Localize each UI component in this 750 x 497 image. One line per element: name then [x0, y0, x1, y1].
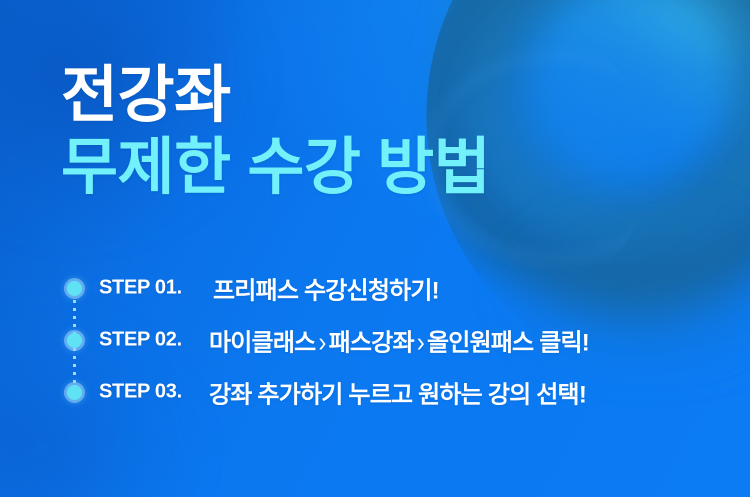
headline-line-2: 무제한 수강 방법 [61, 138, 490, 198]
step-dot-icon [67, 385, 82, 400]
step-dot-icon [67, 333, 82, 348]
step-dot-icon [67, 281, 82, 296]
step-item-2: STEP 02. 마이클래스›패스강좌›올인원패스 클릭! [61, 314, 721, 366]
step-item-3: STEP 03. 강좌 추가하기 누르고 원하는 강의 선택! [61, 366, 721, 418]
headline-line-1: 전강좌 [61, 66, 490, 126]
step-label-2: STEP 02. [99, 329, 182, 352]
chevron-right-icon: › [315, 327, 328, 359]
step-text-3: 강좌 추가하기 누르고 원하는 강의 선택! [209, 375, 586, 410]
step-text-2: 마이클래스›패스강좌›올인원패스 클릭! [209, 323, 589, 358]
chevron-right-icon: › [414, 327, 427, 359]
step-item-1: STEP 01. 프리패스 수강신청하기! [61, 262, 721, 314]
step-text-1: 프리패스 수강신청하기! [213, 271, 439, 306]
step-text-2-part-2: 패스강좌 [329, 330, 414, 357]
step-text-2-part-1: 마이클래스 [209, 330, 315, 357]
step-list: STEP 01. 프리패스 수강신청하기! STEP 02. 마이클래스›패스강… [61, 262, 721, 418]
step-label-3: STEP 03. [99, 381, 182, 404]
step-label-1: STEP 01. [99, 277, 182, 300]
headline-block: 전강좌 무제한 수강 방법 [61, 66, 490, 197]
promo-banner: 전강좌 무제한 수강 방법 STEP 01. 프리패스 수강신청하기! STEP… [0, 0, 750, 497]
step-text-2-part-3: 올인원패스 클릭! [427, 330, 589, 357]
